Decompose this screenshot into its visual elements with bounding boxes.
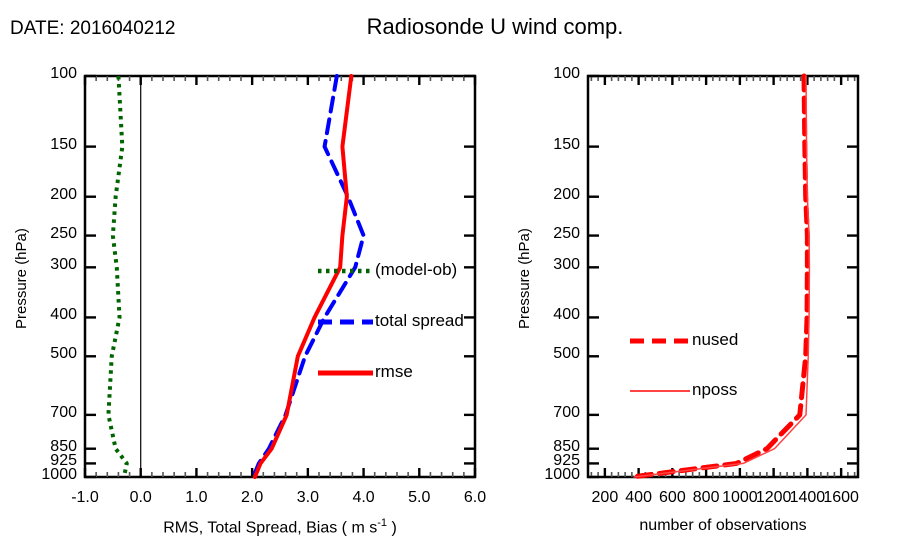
x-tick-label: -1.0: [57, 489, 113, 507]
y-tick-label: 150: [19, 136, 77, 154]
legend-label: nused: [692, 330, 738, 350]
legend-label: total spread: [375, 311, 464, 331]
x-tick-label: 6.0: [447, 489, 503, 507]
series-line: [634, 76, 810, 477]
series-line: [632, 76, 808, 477]
legend-label: rmse: [375, 362, 413, 382]
y-tick-label: 700: [19, 404, 77, 422]
y-tick-label: 100: [522, 65, 580, 83]
y-tick-label: 1000: [19, 466, 77, 484]
series-line: [253, 76, 363, 477]
y-tick-label: 500: [522, 345, 580, 363]
x-axis-label: RMS, Total Spread, Bias ( m s-1 ): [85, 517, 475, 537]
legend-label: nposs: [692, 380, 737, 400]
plot-frame: [588, 76, 858, 477]
y-axis-label: Pressure (hPa): [516, 228, 533, 329]
series-line: [255, 76, 351, 477]
x-tick-label: 1600: [813, 489, 869, 507]
y-tick-label: 1000: [522, 466, 580, 484]
x-tick-label: 2.0: [224, 489, 280, 507]
series-line: [108, 76, 126, 477]
y-axis-label: Pressure (hPa): [13, 228, 30, 329]
x-tick-label: 0.0: [113, 489, 169, 507]
x-axis-label: number of observations: [588, 517, 858, 535]
y-tick-label: 150: [522, 136, 580, 154]
legend-label: (model-ob): [375, 260, 457, 280]
chart-canvas: DATE: 2016040212 Radiosonde U wind comp.…: [0, 0, 900, 560]
x-tick-label: 3.0: [280, 489, 336, 507]
y-tick-label: 500: [19, 345, 77, 363]
y-tick-label: 700: [522, 404, 580, 422]
x-tick-label: 1.0: [168, 489, 224, 507]
y-tick-label: 200: [19, 186, 77, 204]
y-tick-label: 100: [19, 65, 77, 83]
y-tick-label: 200: [522, 186, 580, 204]
x-tick-label: 4.0: [336, 489, 392, 507]
plot-svg: [0, 0, 900, 560]
x-tick-label: 5.0: [391, 489, 447, 507]
